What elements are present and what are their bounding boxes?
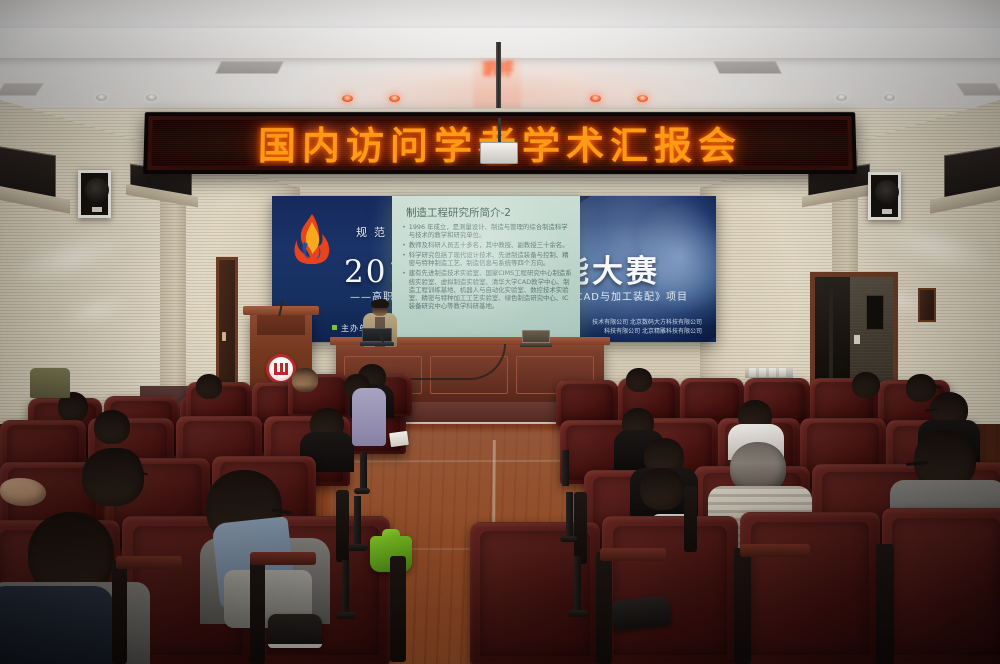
shoe xyxy=(268,614,322,648)
speaker-cone-icon xyxy=(85,178,109,202)
side-chair[interactable] xyxy=(30,368,70,398)
seat-armrest xyxy=(112,560,127,664)
seat-armrest xyxy=(390,556,406,662)
ceiling-downlight xyxy=(836,94,847,101)
person-torso xyxy=(352,388,386,446)
seat-wood-armrest xyxy=(600,548,666,561)
wall-speaker-left xyxy=(78,170,111,218)
seat-leg xyxy=(354,496,361,548)
second-laptop xyxy=(520,330,552,347)
ceiling-vent-left xyxy=(215,61,284,74)
seat-armrest xyxy=(336,490,349,562)
slide-bullet: • 科学研究包括了现代设计技术、先进制造装备与控制、精密与特种制造工艺、制造信息… xyxy=(402,251,574,267)
ceiling-vent-right xyxy=(713,61,782,74)
slide-title: 制造工程研究所简介-2 xyxy=(406,205,574,220)
flame-logo-icon xyxy=(292,212,332,264)
ceiling-downlight xyxy=(96,94,107,101)
seat-leg xyxy=(574,556,581,614)
seat-armrest xyxy=(876,544,894,664)
slide-bullet-list: • 1996 年成立，是测量设计、制造与管理的综合制造科学与技术的教学和研究单位… xyxy=(402,223,574,312)
bullet-icon: • xyxy=(402,251,406,267)
seat-armrest xyxy=(574,492,587,564)
seat-foot xyxy=(348,544,368,551)
slide-bullet-text: 教师及科研人员五十多名，其中教授、副教授三十余名。 xyxy=(409,241,574,249)
person-head xyxy=(906,374,936,402)
seat-leg xyxy=(360,452,367,492)
wall-speaker-right xyxy=(868,172,901,220)
ceiling-soffit-upper xyxy=(0,0,1000,30)
water-glass xyxy=(749,368,756,377)
door-knob-icon xyxy=(222,332,226,341)
emblem-mark-icon xyxy=(274,363,288,375)
water-glass xyxy=(759,368,766,377)
sponsor-line-1: 技术有限公司 北京数码大方科技有限公司 xyxy=(592,318,702,327)
person-head xyxy=(852,372,880,398)
water-glass xyxy=(769,368,776,377)
slide-bullet-text: 1996 年成立，是测量设计、制造与管理的综合制造科学与技术的教学和研究单位。 xyxy=(409,223,574,239)
doorway-wall-picture xyxy=(866,295,883,329)
seat-leg xyxy=(562,450,569,486)
laptop-screen xyxy=(522,330,550,343)
seat-wood-armrest xyxy=(116,556,182,569)
backdrop-sponsors: 技术有限公司 北京数码大方科技有限公司 科技有限公司 北京精雕科技有限公司 xyxy=(592,318,702,336)
seat-foot xyxy=(568,610,588,617)
projector-body xyxy=(480,142,518,164)
seat-leg xyxy=(566,492,573,540)
bullet-icon: • xyxy=(402,269,406,309)
seat-foot xyxy=(354,488,370,494)
person-head xyxy=(292,368,318,392)
ceiling-downlight-red xyxy=(590,95,601,102)
speaker-badge xyxy=(92,207,102,212)
person-head xyxy=(196,374,222,399)
seat-leg xyxy=(342,560,349,616)
light-switch-icon[interactable] xyxy=(854,335,860,344)
person-head xyxy=(94,410,130,444)
bag-handles xyxy=(382,529,400,540)
seat-armrest xyxy=(734,548,751,664)
person-head xyxy=(82,448,144,506)
shoe xyxy=(611,595,672,631)
shoe-sole xyxy=(268,644,322,648)
sponsor-line-2: 科技有限公司 北京精雕科技有限公司 xyxy=(592,327,702,336)
auditorium-scene: 国内访问学 国内访问学者学术汇 xyxy=(0,0,1000,664)
seat-foot xyxy=(336,612,356,619)
bullet-square-icon xyxy=(332,325,337,330)
ceiling-downlight-red xyxy=(637,95,648,102)
slide-bullet: • 教师及科研人员五十多名，其中教授、副教授三十余名。 xyxy=(402,241,574,249)
ceiling-downlight xyxy=(146,94,157,101)
seat[interactable] xyxy=(882,508,1000,664)
seat-armrest xyxy=(684,486,697,552)
seat[interactable] xyxy=(740,512,880,664)
seat-armrest xyxy=(596,552,612,664)
seat-wood-armrest xyxy=(250,552,316,565)
paper-sheet xyxy=(389,431,409,447)
ceiling-downlight-red xyxy=(389,95,400,102)
speaker-badge xyxy=(882,209,892,214)
wall-picture-right xyxy=(918,288,936,322)
projection-screen: 制造工程研究所简介-2 • 1996 年成立，是测量设计、制造与管理的综合制造科… xyxy=(392,196,580,344)
ceiling-vent-right-far xyxy=(956,83,1000,96)
seat[interactable] xyxy=(602,516,738,664)
slide-bullet: • 建有先进制造技术实验室、国家CIMS工程研究中心制造系统实验室、虚拟制造实验… xyxy=(402,269,574,309)
slide-bullet-text: 建有先进制造技术实验室、国家CIMS工程研究中心制造系统实验室、虚拟制造实验室、… xyxy=(409,269,574,309)
laptop-keyboard xyxy=(520,343,552,347)
person-head xyxy=(640,468,684,510)
ceiling-vent-left-far xyxy=(0,83,44,96)
glass-tray xyxy=(745,368,793,378)
water-glass xyxy=(779,368,786,377)
seat-armrest xyxy=(250,560,265,664)
speaker-cone-icon xyxy=(875,180,899,204)
seat-wood-armrest xyxy=(740,544,810,557)
ceiling-downlight-red xyxy=(342,95,353,102)
bullet-icon: • xyxy=(402,223,406,239)
seat-foot xyxy=(560,536,577,542)
person-shoulders xyxy=(0,586,114,664)
bullet-icon: • xyxy=(402,241,406,249)
slide-bullet: • 1996 年成立，是测量设计、制造与管理的综合制造科学与技术的教学和研究单位… xyxy=(402,223,574,239)
presenter-hair xyxy=(371,299,389,308)
person-head xyxy=(626,368,652,392)
slide-bullet-text: 科学研究包括了现代设计技术、先进制造装备与控制、精密与特种制造工艺、制造信息与系… xyxy=(409,251,574,267)
hand xyxy=(0,478,46,506)
ceiling-downlight xyxy=(884,94,895,101)
podium-neck xyxy=(257,315,305,335)
